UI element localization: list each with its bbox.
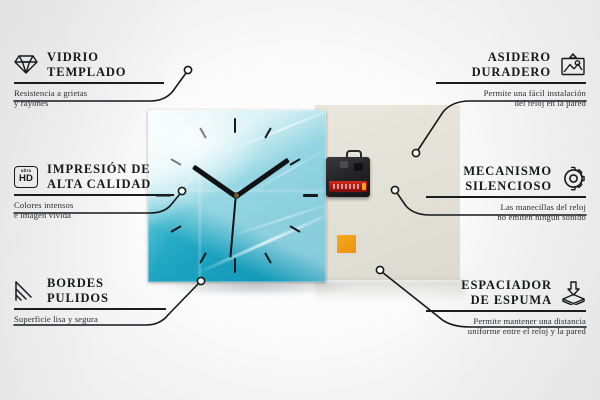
ultra-hd-icon: ultra HD (14, 166, 38, 188)
battery (329, 181, 367, 192)
feature-title-line1: BORDES (47, 276, 109, 291)
polished-edges-icon (14, 280, 38, 301)
feature-title-line1: VIDRIO (47, 50, 126, 65)
feature-vidrio-templado: VIDRIO TEMPLADO Resistencia a grietas y … (14, 50, 164, 109)
diamond-icon (14, 54, 38, 75)
feature-divider (14, 194, 174, 196)
feature-desc-line1: Superficie lisa y segura (14, 314, 166, 325)
foam-spacer-arrow-icon (561, 281, 586, 305)
feature-desc-line1: Permite una fácil instalación (436, 88, 586, 99)
battery-terminal (362, 183, 366, 190)
clock-tick (303, 194, 318, 197)
feature-desc-line2: uniforme entre el reloj y la pared (426, 326, 586, 337)
clock-center-pin (234, 193, 239, 198)
feature-desc-line1: Resistencia a grietas (14, 88, 164, 99)
mechanism-knob (354, 163, 363, 171)
glass-clock-face (148, 110, 326, 282)
feature-title-line2: ALTA CALIDAD (47, 177, 151, 192)
feature-title-line1: ASIDERO (472, 50, 551, 65)
feature-desc-line2: y rayones (14, 98, 164, 109)
feature-title-line1: MECANISMO (463, 164, 552, 179)
feature-title-line2: PULIDOS (47, 291, 109, 306)
feature-impresion-alta-calidad: ultra HD IMPRESIÓN DE ALTA CALIDAD Color… (14, 162, 174, 221)
feature-desc-line1: Las manecillas del reloj (426, 202, 586, 213)
gear-icon (561, 166, 586, 191)
feature-divider (436, 82, 586, 84)
battery-label (333, 184, 359, 189)
feature-bordes-pulidos: BORDES PULIDOS Superficie lisa y segura (14, 276, 166, 324)
feature-title-line1: ESPACIADOR (461, 278, 552, 293)
feature-title-line2: DE ESPUMA (461, 293, 552, 308)
feature-title-line2: DURADERO (472, 65, 551, 80)
feature-desc-line2: del reloj en la pared (436, 98, 586, 109)
clock-tick (234, 258, 236, 273)
feature-desc-line1: Colores intensos (14, 200, 174, 211)
infographic-canvas: VIDRIO TEMPLADO Resistencia a grietas y … (0, 0, 600, 400)
feature-divider (426, 196, 586, 198)
clock-tick (234, 118, 236, 133)
feature-title-line1: IMPRESIÓN DE (47, 162, 151, 177)
feature-divider (14, 82, 164, 84)
foam-spacer (337, 235, 356, 253)
feature-asidero-duradero: ASIDERO DURADERO Permite una fácil insta… (436, 50, 586, 109)
feature-mecanismo-silencioso: MECANISMO SILENCIOSO Las manecillas del … (426, 164, 586, 223)
feature-title-line2: SILENCIOSO (463, 179, 552, 194)
feature-title-line2: TEMPLADO (47, 65, 126, 80)
feature-desc-line2: e imagen vívida (14, 210, 174, 221)
clock-mechanism (326, 157, 370, 197)
ultra-hd-icon-bottom: HD (19, 174, 33, 184)
feature-desc-line2: no emiten ningún sonido (426, 212, 586, 223)
feature-desc-line1: Permite mantener una distancia (426, 316, 586, 327)
mechanism-shaft (340, 161, 348, 168)
clock-shadow (156, 282, 356, 296)
feature-espaciador-de-espuma: ESPACIADOR DE ESPUMA Permite mantener un… (426, 278, 586, 337)
feature-divider (14, 308, 166, 310)
feature-divider (426, 310, 586, 312)
picture-frame-hanger-icon (560, 53, 586, 76)
